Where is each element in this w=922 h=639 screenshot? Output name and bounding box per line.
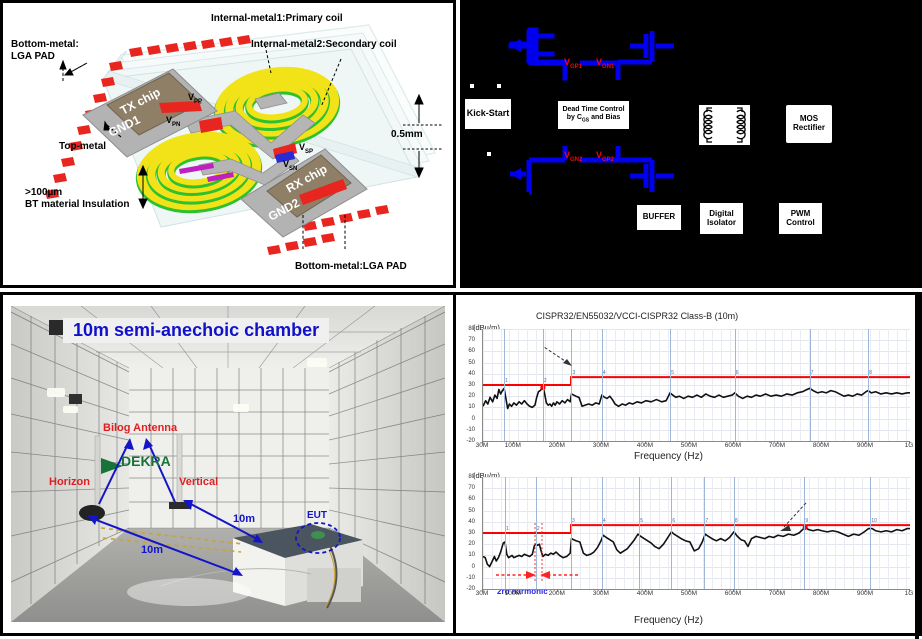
x-axis-tick-mark (733, 441, 734, 444)
x-axis-tick-mark (865, 441, 866, 444)
y-axis-tick: 10 (461, 404, 475, 410)
dead-time-line2: by CGS and Bias (567, 114, 621, 124)
marker-line (543, 329, 544, 441)
x-axis-tick-mark (733, 589, 734, 592)
marker-number: 2 (537, 526, 540, 532)
y-axis-tick: 60 (461, 496, 475, 502)
x-axis-tick-mark (909, 441, 910, 444)
marker-line (671, 477, 672, 589)
marker-number: 2 (544, 378, 547, 384)
vpp-label: VPP (188, 92, 202, 106)
dekra-label: DEKRA (121, 453, 171, 469)
pwm-control-box[interactable]: PWM Control (778, 202, 823, 235)
marker-number: 3 (572, 370, 575, 376)
marker-line (602, 477, 603, 589)
y-axis-tick: 30 (461, 530, 475, 536)
marker-number: 5 (640, 518, 643, 524)
bottom-left-mosfet (510, 146, 565, 192)
mos-rectifier-line2: Rectifier (793, 124, 825, 133)
distance-label-2: 10m (141, 544, 163, 556)
circuit-stage: VGP1 VGN1 VGN2 VGP2 Kick-Start Dead Time… (460, 0, 922, 288)
marker-line (810, 329, 811, 441)
marker-line (505, 477, 506, 589)
x-axis-tick-mark (557, 589, 558, 592)
x-axis-tick-mark (482, 589, 483, 592)
vsn-label: VSN (283, 159, 297, 173)
distance-label-1: 10m (233, 513, 255, 525)
marker-number: 9 (805, 518, 808, 524)
marker-line (735, 329, 736, 441)
marker-line (670, 329, 671, 441)
marker-line (704, 477, 705, 589)
y-axis-tick: 80 (461, 326, 475, 332)
vgp2-label: VGP2 (596, 150, 614, 163)
chart-title: CISPR32/EN55032/VCCI-CISPR32 Class-B (10… (536, 311, 738, 321)
marker-line (536, 477, 537, 589)
y-axis-tick: 80 (461, 474, 475, 480)
primary-coil-label: Internal-metal1:Primary coil (211, 13, 343, 25)
secondary-coil-label: Internal-metal2:Secondary coil (251, 39, 397, 51)
chart-xlabel-2: Frequency (Hz) (634, 615, 703, 626)
vpn-label: VPN (166, 115, 180, 129)
pwm-control-line2: Control (786, 219, 814, 228)
chart-vertical: CISPR32/EN55032/VCCI-CISPR32 Class-B (10… (456, 295, 919, 467)
transformer-icon (699, 105, 750, 145)
eut-label: EUT (307, 510, 327, 521)
marker-line (804, 477, 805, 589)
chamber-stage: 10m semi-anechoic chamber Bilog Antenna … (6, 298, 450, 630)
marker-line (870, 477, 871, 589)
kick-start-box[interactable]: Kick-Start (464, 98, 512, 130)
chamber-title: 10m semi-anechoic chamber (63, 318, 329, 343)
y-axis-tick: 60 (461, 348, 475, 354)
digital-isolator-line2: Isolator (707, 219, 736, 228)
y-axis-tick: -10 (461, 427, 475, 433)
x-axis-tick-mark (557, 441, 558, 444)
emission-trace (483, 388, 910, 409)
x-axis-tick-mark (777, 589, 778, 592)
y-axis-tick: 20 (461, 541, 475, 547)
marker-number: 5 (671, 370, 674, 376)
chart-xlabel-1: Frequency (Hz) (634, 451, 703, 462)
marker-number: 6 (736, 370, 739, 376)
y-axis-tick: 70 (461, 337, 475, 343)
marker-number: 4 (603, 370, 606, 376)
top-right-mosfet (618, 31, 674, 80)
digital-isolator-box[interactable]: Digital Isolator (699, 202, 744, 235)
node-dot-1 (470, 84, 474, 88)
x-axis-tick-mark (689, 589, 690, 592)
y-axis-tick: 0 (461, 416, 475, 422)
plot-area-vertical: 12345678 (482, 329, 910, 442)
marker-line (571, 329, 572, 441)
marker-line (868, 329, 869, 441)
x-axis-tick-mark (645, 589, 646, 592)
x-axis-tick-mark (482, 441, 483, 444)
vgn2-label: VGN2 (564, 150, 582, 163)
node-dot-2 (497, 84, 501, 88)
y-axis-tick: 70 (461, 485, 475, 491)
x-axis-tick-mark (513, 441, 514, 444)
x-axis-tick-mark (645, 441, 646, 444)
marker-number: 3 (572, 518, 575, 524)
x-axis-tick-mark (513, 589, 514, 592)
chamber-scene (11, 306, 445, 622)
bilog-antenna-label: Bilog Antenna (103, 422, 177, 434)
vgn1-label: VGN1 (596, 57, 614, 70)
x-axis-tick-mark (601, 441, 602, 444)
bottom-metal-right-label: Bottom-metal:LGA PAD (295, 261, 407, 273)
figure-page: GND1 GND2 TX chip RX chip Bottom-metal: … (0, 0, 922, 636)
package-diagram-panel: GND1 GND2 TX chip RX chip Bottom-metal: … (0, 0, 456, 288)
vertical-label: Vertical (179, 476, 218, 488)
x-axis-tick-mark (821, 589, 822, 592)
y-axis-tick: 0 (461, 564, 475, 570)
x-axis-tick-mark (909, 589, 910, 592)
marker-number: 1 (505, 378, 508, 384)
dead-time-line1: Dead Time Control (562, 106, 624, 114)
y-axis-tick: 40 (461, 371, 475, 377)
limit-line (483, 525, 910, 533)
anechoic-chamber-panel: 10m semi-anechoic chamber Bilog Antenna … (0, 292, 456, 636)
marker-number: 10 (871, 518, 877, 524)
bottom-metal-left-label: Bottom-metal: LGA PAD (11, 39, 79, 62)
marker-number: 4 (603, 518, 606, 524)
transformer-box[interactable] (698, 104, 751, 146)
y-axis-tick: 40 (461, 519, 475, 525)
plot-area-horizontal: 12345678910 (482, 477, 910, 590)
limit-line (483, 377, 910, 385)
insulation-label: >100µm BT material Insulation (25, 187, 129, 210)
chart-horizontal: (dBµ/m) Horizontal PK Margin:1.93dB 2rd … (456, 463, 919, 638)
node-dot-3 (487, 152, 491, 156)
bottom-right-mosfet (618, 146, 674, 192)
x-axis-tick-mark (601, 589, 602, 592)
dead-time-control-box[interactable]: Dead Time Control by CGS and Bias (557, 100, 630, 130)
x-axis-tick-mark (777, 441, 778, 444)
x-axis-tick-mark (821, 441, 822, 444)
y-axis-tick: 50 (461, 360, 475, 366)
marker-number: 8 (869, 370, 872, 376)
y-axis-tick: -10 (461, 575, 475, 581)
marker-number: 6 (672, 518, 675, 524)
marker-number: 1 (506, 526, 509, 532)
chamber-photograph: 10m semi-anechoic chamber Bilog Antenna … (11, 306, 445, 622)
marker-number: 8 (735, 518, 738, 524)
marker-line (602, 329, 603, 441)
marker-line (504, 329, 505, 441)
buffer-box[interactable]: BUFFER (636, 204, 682, 231)
marker-line (639, 477, 640, 589)
top-metal-label: Top-metal (59, 141, 106, 153)
vgp1-label: VGP1 (564, 57, 582, 70)
x-axis-tick-mark (689, 441, 690, 444)
marker-number: 7 (811, 370, 814, 376)
emission-charts-panel: CISPR32/EN55032/VCCI-CISPR32 Class-B (10… (456, 292, 922, 636)
horizon-label: Horizon (49, 476, 90, 488)
y-axis-tick: 30 (461, 382, 475, 388)
marker-line (734, 477, 735, 589)
marker-number: 7 (705, 518, 708, 524)
mos-rectifier-box[interactable]: MOS Rectifier (785, 104, 833, 144)
y-axis-tick: 20 (461, 393, 475, 399)
trace-svg (483, 477, 910, 589)
circuit-wires (460, 0, 922, 288)
trace-svg (483, 329, 910, 441)
y-axis-tick: 10 (461, 552, 475, 558)
y-axis-tick: 50 (461, 508, 475, 514)
vsp-label: VSP (299, 142, 313, 156)
package-stage: GND1 GND2 TX chip RX chip Bottom-metal: … (3, 3, 453, 285)
x-axis-tick-mark (865, 589, 866, 592)
thickness-label: 0.5mm (391, 129, 423, 141)
circuit-diagram-panel: VGP1 VGN1 VGN2 VGP2 Kick-Start Dead Time… (460, 0, 922, 288)
panel-right-edge (915, 295, 919, 639)
marker-line (571, 477, 572, 589)
